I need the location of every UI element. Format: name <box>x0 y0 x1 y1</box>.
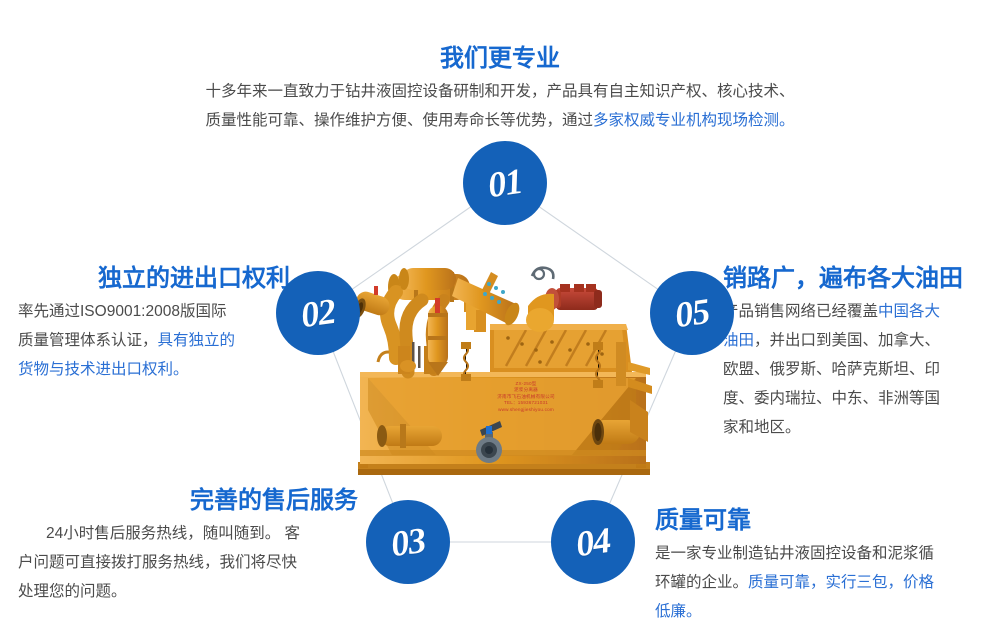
feature-05-line-1: 产品销售网络已经覆盖中国各大 <box>723 297 991 326</box>
feature-04-text-2: 环罐的企业。 <box>655 574 748 591</box>
feature-block-04: 质量可靠 是一家专业制造钻井液固控设备和泥浆循 环罐的企业。质量可靠，实行三包，… <box>655 506 993 626</box>
feature-03-text-2: 户问题可直接拨打服务热线，我们将尽快 <box>18 554 297 571</box>
feature-05-heading: 销路广，遍布各大油田 <box>723 264 991 294</box>
feature-04-highlight-1: 质量可靠，实行三包，价格 <box>748 574 934 591</box>
feature-01-line-2: 质量性能可靠、操作维护方便、使用寿命长等优势，通过多家权威专业机构现场检测。 <box>150 106 850 135</box>
feature-05-line-3: 欧盟、俄罗斯、哈萨克斯坦、印 <box>723 355 991 384</box>
feature-01-highlight: 多家权威专业机构现场检测。 <box>593 112 795 129</box>
feature-block-02: 独立的进出口权利 率先通过ISO9001:2008版国际 质量管理体系认证，具有… <box>18 264 290 384</box>
feature-02-highlight-2: 货物与技术进出口权利。 <box>18 361 189 378</box>
feature-01-text-1: 十多年来一直致力于钻井液固控设备研制和开发，产品具有自主知识产权、核心技术、 <box>205 83 794 100</box>
feature-04-highlight-2: 低廉。 <box>655 603 702 620</box>
mud-separator-machine-image <box>340 250 684 494</box>
feature-02-highlight-1: 具有独立的 <box>158 332 236 349</box>
feature-02-line-2: 质量管理体系认证，具有独立的 <box>18 326 290 355</box>
feature-05-line-5: 家和地区。 <box>723 413 991 442</box>
step-badge-02-label: 02 <box>299 293 338 333</box>
feature-05-line-4: 度、委内瑞拉、中东、非洲等国 <box>723 384 991 413</box>
step-badge-05-label: 05 <box>673 293 712 333</box>
step-badge-03[interactable]: 03 <box>366 500 450 584</box>
feature-05-highlight-1: 中国各大 <box>878 303 940 320</box>
feature-05-text-5: 家和地区。 <box>723 419 801 436</box>
feature-04-line-1: 是一家专业制造钻井液固控设备和泥浆循 <box>655 539 993 568</box>
feature-05-text-4: 度、委内瑞拉、中东、非洲等国 <box>723 390 940 407</box>
feature-02-heading: 独立的进出口权利 <box>18 264 290 294</box>
feature-02-text-1: 率先通过ISO9001:2008版国际 <box>18 303 226 320</box>
feature-01-line-1: 十多年来一直致力于钻井液固控设备研制和开发，产品具有自主知识产权、核心技术、 <box>150 77 850 106</box>
caption-website: www.shengjieshiyou.com <box>470 407 582 413</box>
feature-05-text-1: 产品销售网络已经覆盖 <box>723 303 878 320</box>
feature-05-text-2: ，并出口到美国、加拿大、 <box>754 332 940 349</box>
step-badge-01[interactable]: 01 <box>463 141 547 225</box>
feature-block-05: 销路广，遍布各大油田 产品销售网络已经覆盖中国各大 油田，并出口到美国、加拿大、… <box>723 264 991 442</box>
feature-02-text-2: 质量管理体系认证， <box>18 332 158 349</box>
feature-05-line-2: 油田，并出口到美国、加拿大、 <box>723 326 991 355</box>
step-badge-04[interactable]: 04 <box>551 500 635 584</box>
feature-03-line-3: 处理您的问题。 <box>18 577 358 606</box>
feature-04-text-1: 是一家专业制造钻井液固控设备和泥浆循 <box>655 545 934 562</box>
feature-03-line-1: 24小时售后服务热线，随叫随到。 客 <box>18 519 358 548</box>
infographic-stage: ZX-250型 泥浆分离器 济南市飞石油机械有限公司 TEL：159367210… <box>0 0 1000 642</box>
step-badge-01-label: 01 <box>486 163 525 203</box>
step-badge-02[interactable]: 02 <box>276 271 360 355</box>
step-badge-03-label: 03 <box>389 522 428 562</box>
feature-03-heading: 完善的售后服务 <box>18 486 358 516</box>
feature-block-03: 完善的售后服务 24小时售后服务热线，随叫随到。 客 户问题可直接拨打服务热线，… <box>18 486 358 606</box>
step-badge-05[interactable]: 05 <box>650 271 734 355</box>
feature-02-line-1: 率先通过ISO9001:2008版国际 <box>18 297 290 326</box>
machine-body-caption: ZX-250型 泥浆分离器 济南市飞石油机械有限公司 TEL：159367210… <box>470 381 582 413</box>
feature-04-line-3: 低廉。 <box>655 597 993 626</box>
feature-03-text-3: 处理您的问题。 <box>18 583 127 600</box>
step-badge-04-label: 04 <box>574 522 613 562</box>
feature-01-text-2: 质量性能可靠、操作维护方便、使用寿命长等优势，通过 <box>205 112 593 129</box>
feature-01-heading: 我们更专业 <box>150 44 850 74</box>
feature-03-line-2: 户问题可直接拨打服务热线，我们将尽快 <box>18 548 358 577</box>
feature-04-heading: 质量可靠 <box>655 506 993 536</box>
feature-block-01: 我们更专业 十多年来一直致力于钻井液固控设备研制和开发，产品具有自主知识产权、核… <box>150 44 850 135</box>
feature-03-text-1: 24小时售后服务热线，随叫随到。 客 <box>46 525 300 542</box>
feature-02-line-3: 货物与技术进出口权利。 <box>18 355 290 384</box>
feature-04-line-2: 环罐的企业。质量可靠，实行三包，价格 <box>655 568 993 597</box>
feature-05-text-3: 欧盟、俄罗斯、哈萨克斯坦、印 <box>723 361 940 378</box>
